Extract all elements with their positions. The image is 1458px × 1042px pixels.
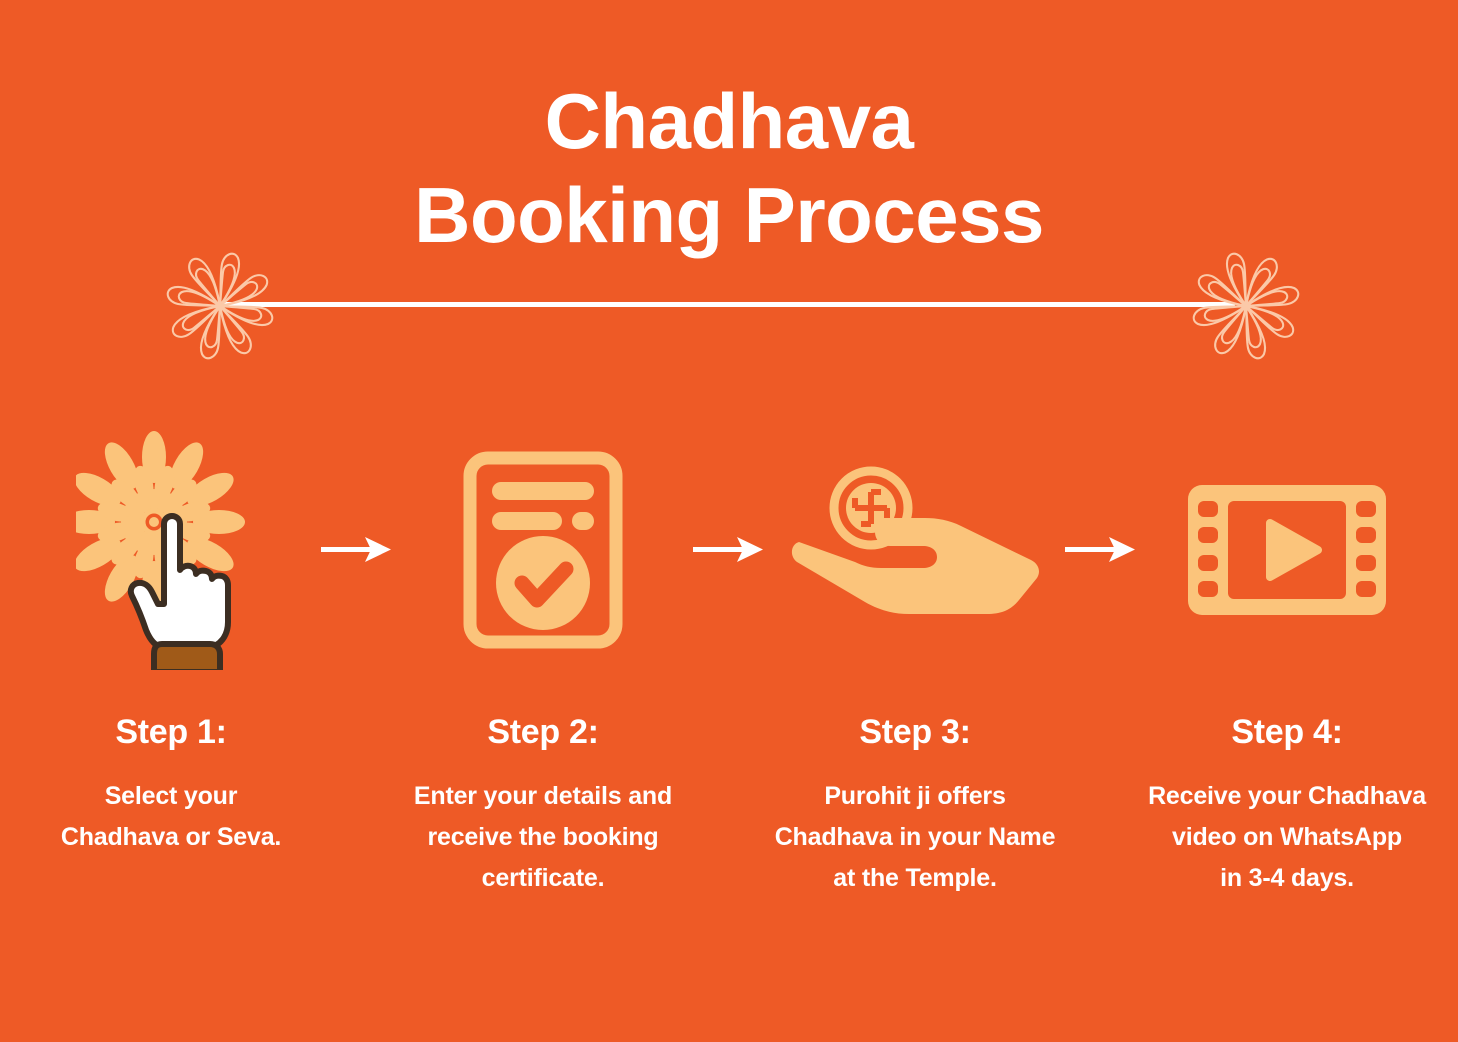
step-1: Step 1: Select yourChadhava or Seva. <box>21 430 321 858</box>
chadhava-booking-process-infographic: { "page": { "background_color": "#EE5A26… <box>0 0 1458 1042</box>
step-4-heading: Step 4: <box>1231 712 1342 752</box>
step-3-heading: Step 3: <box>859 712 970 752</box>
step-3: Step 3: Purohit ji offersChadhava in you… <box>765 430 1065 899</box>
flower-pinwheel-ornament-left <box>120 252 320 360</box>
step-2-heading: Step 2: <box>487 712 598 752</box>
decorative-divider <box>120 252 1338 360</box>
arrow-slot-2 <box>693 430 765 670</box>
hand-offering-coin-icon <box>785 460 1045 640</box>
arrow-slot-1 <box>321 430 393 670</box>
step-4: Step 4: Receive your Chadhavavideo on Wh… <box>1137 430 1437 899</box>
mandala-hand-cursor-icon <box>76 430 266 670</box>
title-line-1: Chadhava <box>0 74 1458 168</box>
step-2-icon-slot <box>393 430 693 670</box>
flower-pinwheel-ornament-right <box>1146 252 1346 360</box>
arrow-right-icon-1 <box>321 535 393 565</box>
divider-line <box>223 302 1235 307</box>
step-1-heading: Step 1: <box>115 712 226 752</box>
step-3-icon-slot <box>765 430 1065 670</box>
step-4-icon-slot <box>1137 430 1437 670</box>
title-line-2: Booking Process <box>0 168 1458 262</box>
step-4-description: Receive your Chadhavavideo on WhatsAppin… <box>1137 776 1437 899</box>
steps-row: Step 1: Select yourChadhava or Seva. Ste… <box>0 430 1458 899</box>
step-1-icon-slot <box>21 430 321 670</box>
step-2-description: Enter your details andreceive the bookin… <box>393 776 693 899</box>
arrow-right-icon-3 <box>1065 535 1137 565</box>
page-title: Chadhava Booking Process <box>0 74 1458 262</box>
arrow-slot-3 <box>1065 430 1137 670</box>
step-2: Step 2: Enter your details andreceive th… <box>393 430 693 899</box>
arrow-right-icon-2 <box>693 535 765 565</box>
step-1-description: Select yourChadhava or Seva. <box>21 776 321 858</box>
step-3-description: Purohit ji offersChadhava in your Nameat… <box>765 776 1065 899</box>
certificate-check-icon <box>458 450 628 650</box>
video-film-play-icon <box>1182 475 1392 625</box>
